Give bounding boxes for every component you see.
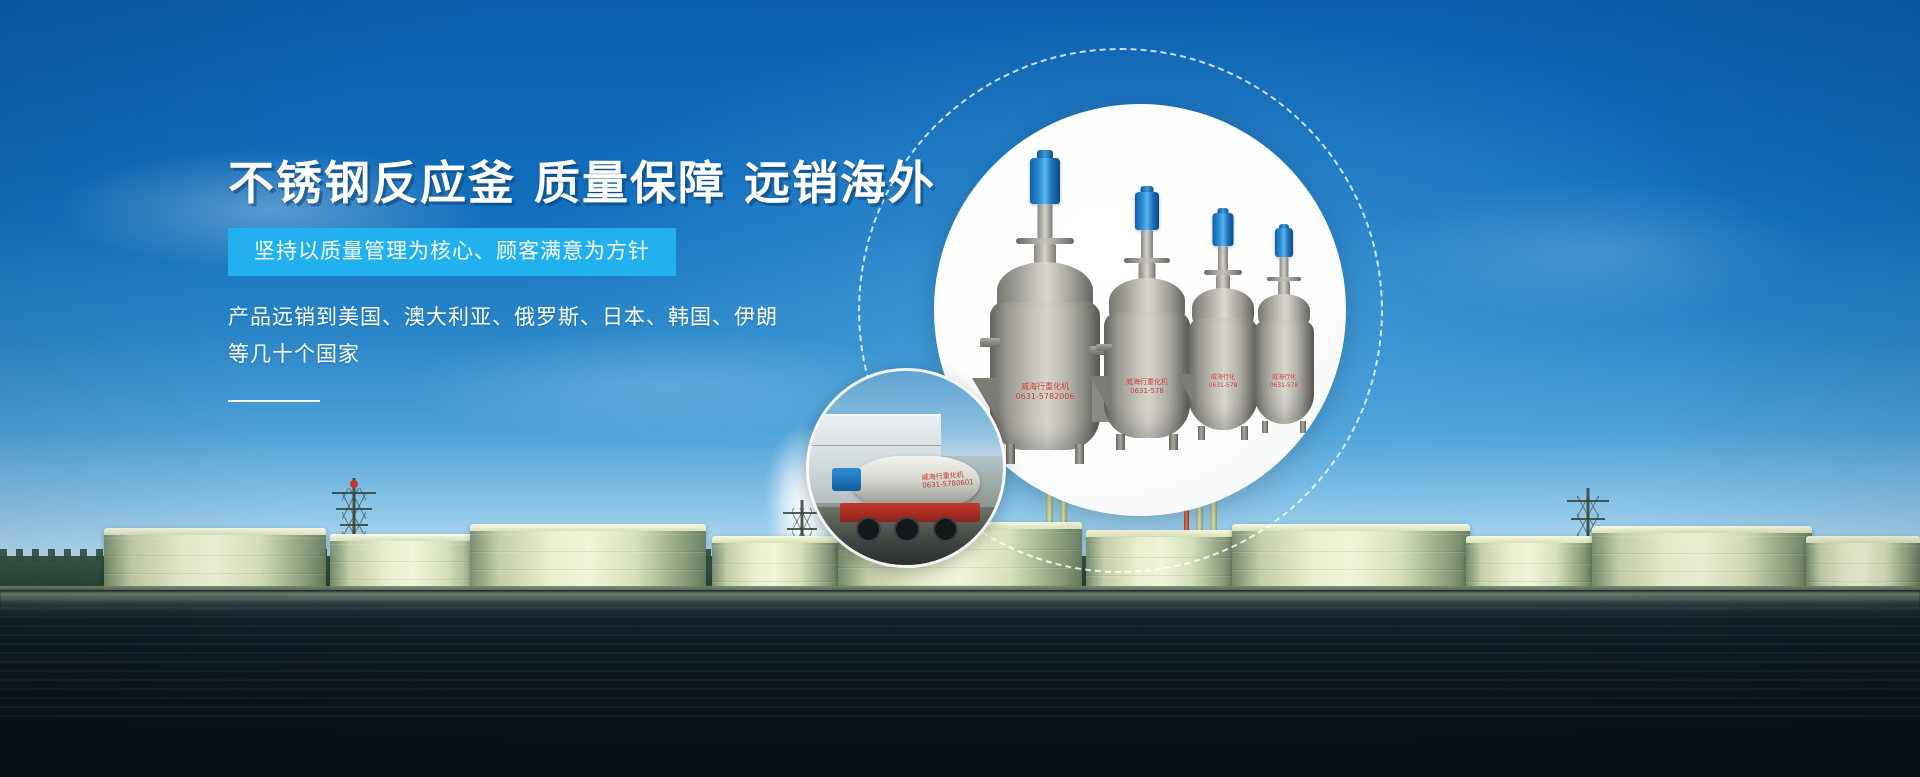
- reactor-label-1: 威海行重化机 0631-5782006: [1016, 382, 1075, 402]
- storage-tank: [1466, 536, 1594, 590]
- water-reflection: [0, 598, 1920, 718]
- hero-banner: 威海行重化机 0631-5782006 威海行重化机 0631-578: [0, 0, 1920, 777]
- tagline-badge: 坚持以质量管理为核心、顾客满意为方针: [228, 228, 676, 276]
- reactor-brand: 威海行化: [1211, 374, 1235, 381]
- reactor-phone: 0631-578: [1209, 382, 1238, 389]
- reactor-brand: 威海行重化机: [1021, 382, 1069, 391]
- reactor-brand: 威海行重化机: [1126, 378, 1168, 386]
- description-line-1: 产品远销到美国、澳大利亚、俄罗斯、日本、韩国、伊朗: [228, 300, 788, 337]
- storage-tank: [1806, 536, 1920, 590]
- inset-truck-wheel: [856, 517, 881, 542]
- reactor-phone: 0631-578: [1130, 387, 1164, 395]
- reactor-nozzle: [980, 338, 1000, 347]
- reactor-vessel-1: 威海行重化机 0631-5782006: [990, 150, 1100, 450]
- description-line-2: 等几十个国家: [228, 337, 788, 374]
- storage-tank: [470, 524, 706, 590]
- inset-vessel-label: 威海行重化机 0631-5780601: [921, 470, 974, 490]
- reactor-vessel-3: 威海行化 0631-578: [1188, 208, 1258, 430]
- reactor-label-3: 威海行化 0631-578: [1209, 374, 1238, 389]
- reactor-label-2: 威海行重化机 0631-578: [1126, 378, 1168, 396]
- reactor-phone: 0631-578: [1270, 382, 1299, 389]
- divider-rule: [228, 400, 320, 402]
- inset-truck-wheel: [894, 517, 919, 542]
- inset-truck-wheel: [933, 517, 958, 542]
- page-title: 不锈钢反应釜 质量保障 远销海外: [228, 160, 948, 206]
- description-text: 产品远销到美国、澳大利亚、俄罗斯、日本、韩国、伊朗 等几十个国家: [228, 300, 788, 374]
- reactor-support-fin: [1177, 374, 1193, 404]
- hero-copy-block: 不锈钢反应釜 质量保障 远销海外 坚持以质量管理为核心、顾客满意为方针 产品远销…: [228, 160, 948, 402]
- reactor-brand: 威海行化: [1272, 374, 1296, 381]
- reactor-label-4: 威海行化 0631-578: [1270, 374, 1299, 389]
- storage-tank: [104, 528, 326, 590]
- reactor-support-fin: [1090, 376, 1110, 412]
- inset-vessel-motor: [832, 468, 861, 491]
- reactor-phone: 0631-5782006: [1016, 392, 1075, 401]
- storage-tank: [1592, 526, 1812, 590]
- reactor-vessel-4: 威海行化 0631-578: [1254, 224, 1314, 424]
- storage-tank: [1232, 524, 1470, 590]
- reactor-nozzle: [1096, 344, 1112, 351]
